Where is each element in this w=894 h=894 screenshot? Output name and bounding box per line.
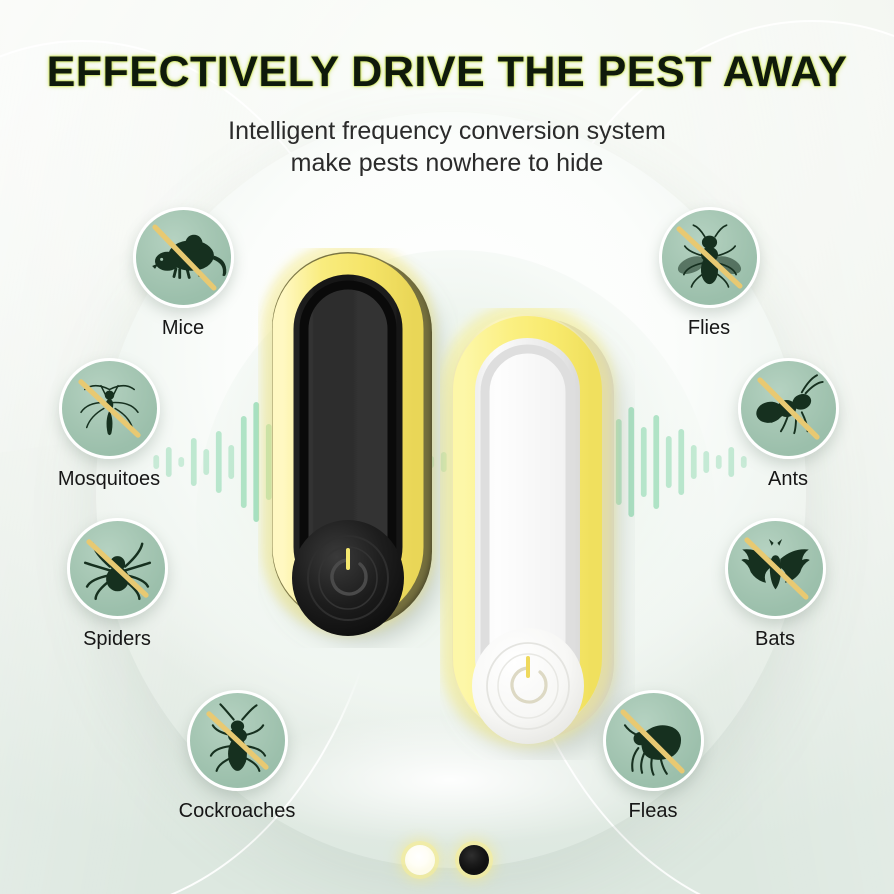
mouse-icon — [133, 207, 234, 308]
mosquito-icon — [59, 358, 160, 459]
sound-wave-bar — [653, 415, 659, 509]
page-title: EFFECTIVELY DRIVE THE PEST AWAY — [0, 0, 894, 97]
pest-item-cockroaches[interactable]: Cockroaches — [162, 690, 312, 823]
sound-wave-bar — [666, 436, 672, 488]
pest-item-fleas[interactable]: Fleas — [578, 690, 728, 823]
ultrasonic-pest-repeller-black[interactable] — [258, 248, 458, 648]
fly-icon — [659, 207, 760, 308]
pest-label: Bats — [700, 628, 850, 651]
sound-wave-bar — [678, 429, 684, 495]
color-swatch-black[interactable] — [459, 845, 489, 875]
product-marketing-image: EFFECTIVELY DRIVE THE PEST AWAY Intellig… — [0, 0, 894, 894]
sound-wave-bar — [228, 445, 234, 479]
pest-item-mosquitoes[interactable]: Mosquitoes — [34, 358, 184, 491]
sound-wave-bar — [703, 451, 709, 473]
color-swatch-group — [0, 832, 894, 888]
pest-label: Flies — [634, 317, 784, 340]
color-swatch-white[interactable] — [405, 845, 435, 875]
sound-wave-bar — [691, 445, 697, 479]
power-button-black[interactable] — [292, 520, 404, 636]
header: EFFECTIVELY DRIVE THE PEST AWAY Intellig… — [0, 0, 894, 179]
subtitle-line-1: Intelligent frequency conversion system — [228, 117, 666, 145]
pest-item-ants[interactable]: Ants — [713, 358, 863, 491]
sound-wave-bar — [641, 427, 647, 497]
sound-wave-bar — [241, 416, 247, 508]
pest-label: Ants — [713, 468, 863, 491]
cockroach-icon — [187, 690, 288, 791]
ant-icon — [738, 358, 839, 459]
pest-item-mice[interactable]: Mice — [108, 207, 258, 340]
pest-label: Cockroaches — [162, 800, 312, 823]
sound-wave-bar — [203, 449, 209, 475]
pest-label: Mosquitoes — [34, 468, 184, 491]
subtitle-line-2: make pests nowhere to hide — [291, 149, 604, 177]
flea-icon — [603, 690, 704, 791]
bat-icon — [725, 518, 826, 619]
pest-item-spiders[interactable]: Spiders — [42, 518, 192, 651]
power-button-white[interactable] — [472, 628, 584, 744]
subtitle: Intelligent frequency conversion system … — [0, 115, 894, 179]
sound-wave-bar — [216, 431, 222, 493]
pest-label: Spiders — [42, 628, 192, 651]
spider-icon — [67, 518, 168, 619]
sound-wave-bar — [191, 438, 197, 486]
pest-label: Fleas — [578, 800, 728, 823]
pest-item-flies[interactable]: Flies — [634, 207, 784, 340]
pest-label: Mice — [108, 317, 258, 340]
pest-item-bats[interactable]: Bats — [700, 518, 850, 651]
